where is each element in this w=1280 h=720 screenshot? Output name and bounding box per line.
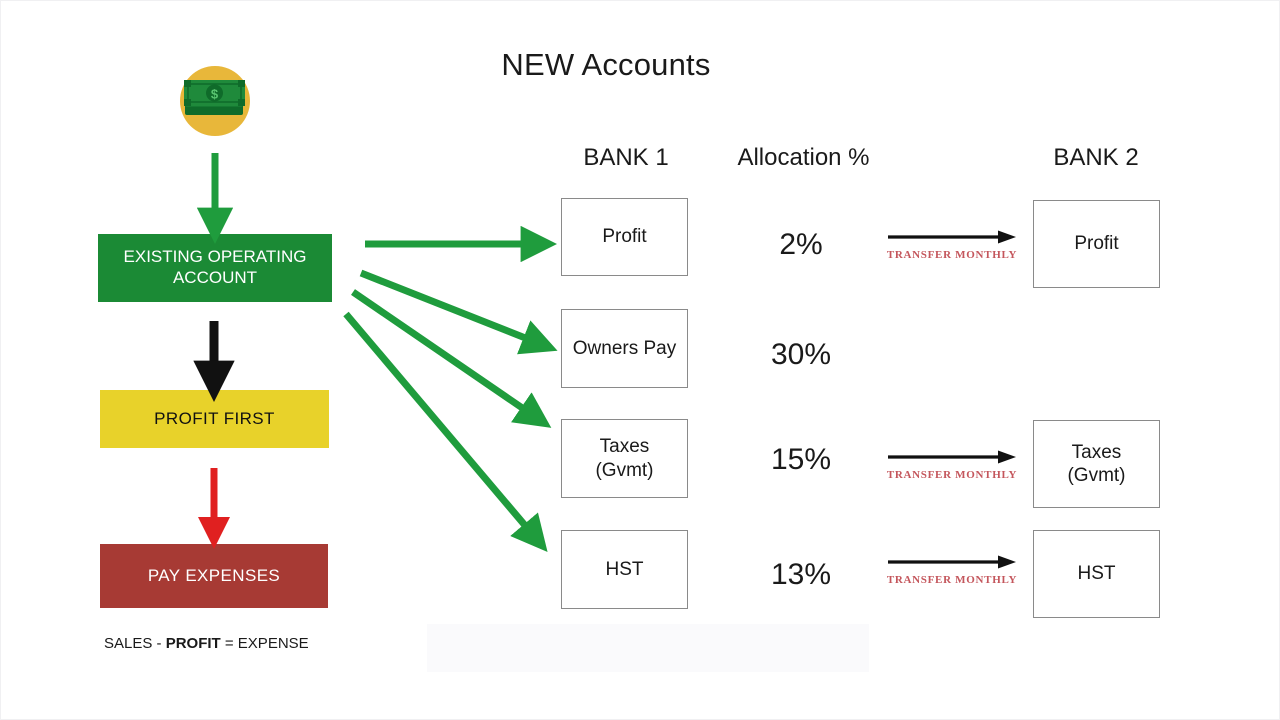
allocation-percent: 13% <box>731 558 871 592</box>
transfer-monthly-group: TRANSFER MONTHLY <box>877 449 1027 481</box>
bank1-account-box[interactable]: Taxes (Gvmt) <box>561 419 688 498</box>
existing-operating-account-box[interactable]: EXISTING OPERATING ACCOUNT <box>98 234 332 302</box>
empty-placeholder-panel <box>427 624 869 672</box>
bank1-account-box[interactable]: Owners Pay <box>561 309 688 388</box>
arrow-operating-to-bank1-hst <box>346 314 534 536</box>
transfer-monthly-label: TRANSFER MONTHLY <box>877 249 1027 261</box>
transfer-monthly-label: TRANSFER MONTHLY <box>877 469 1027 481</box>
transfer-arrow-icon <box>877 554 1027 575</box>
profit-first-box[interactable]: PROFIT FIRST <box>100 390 329 448</box>
transfer-arrow-icon <box>877 449 1027 470</box>
formula-part-1: SALES - <box>104 635 166 652</box>
slide-canvas: NEW Accounts $ EXISTING OPERATING ACCOUN… <box>0 0 1280 720</box>
formula-part-2: = EXPENSE <box>221 635 309 652</box>
allocation-percent: 30% <box>731 338 871 372</box>
pay-expenses-box[interactable]: PAY EXPENSES <box>100 544 328 608</box>
arrow-operating-to-bank1-owners-pay <box>361 273 538 343</box>
transfer-monthly-group: TRANSFER MONTHLY <box>877 229 1027 261</box>
transfer-monthly-label: TRANSFER MONTHLY <box>877 574 1027 586</box>
allocation-percent: 2% <box>731 228 871 262</box>
column-header-allocation: Allocation % <box>701 144 906 172</box>
transfer-arrow-icon <box>877 229 1027 250</box>
allocation-percent: 15% <box>731 443 871 477</box>
transfer-monthly-group: TRANSFER MONTHLY <box>877 554 1027 586</box>
money-stack-icon: $ <box>173 59 257 143</box>
formula-caption: SALES - PROFIT = EXPENSE <box>104 635 309 652</box>
bank1-account-box[interactable]: Profit <box>561 198 688 276</box>
column-header-bank1: BANK 1 <box>531 144 721 172</box>
formula-profit-bold: PROFIT <box>166 635 221 652</box>
bank2-account-box[interactable]: Taxes (Gvmt) <box>1033 420 1160 508</box>
svg-text:$: $ <box>211 86 219 101</box>
column-header-bank2: BANK 2 <box>1001 144 1191 172</box>
page-title: NEW Accounts <box>431 47 781 83</box>
bank2-account-box[interactable]: HST <box>1033 530 1160 618</box>
bank2-account-box[interactable]: Profit <box>1033 200 1160 288</box>
arrow-operating-to-bank1-taxes <box>353 292 534 416</box>
bank1-account-box[interactable]: HST <box>561 530 688 609</box>
